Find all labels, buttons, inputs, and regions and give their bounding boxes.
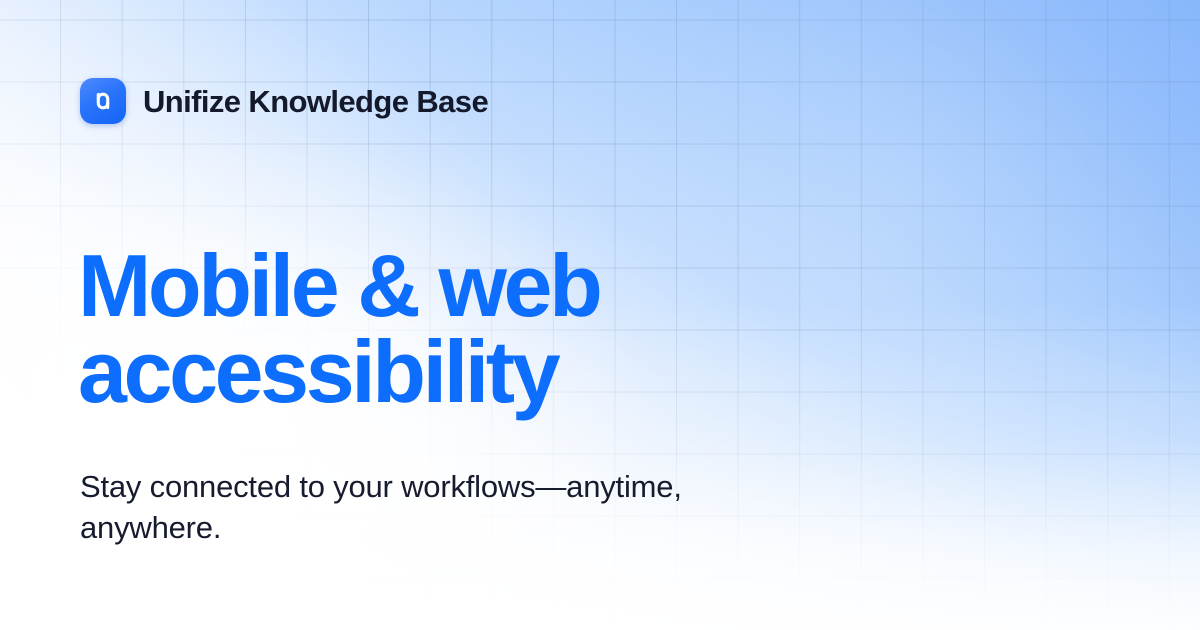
page-title-line-1: Mobile & web: [78, 243, 778, 329]
page-subtitle-line-2: anywhere.: [80, 507, 880, 548]
unifize-logo-icon: [80, 78, 126, 124]
page-subtitle: Stay connected to your workflows—anytime…: [80, 466, 880, 548]
brand-header: Unifize Knowledge Base: [80, 78, 488, 124]
brand-title: Unifize Knowledge Base: [143, 86, 488, 117]
page-title: Mobile & web accessibility: [78, 243, 778, 415]
page-subtitle-line-1: Stay connected to your workflows—anytime…: [80, 466, 880, 507]
page-title-line-2: accessibility: [78, 329, 778, 415]
og-card: Unifize Knowledge Base Mobile & web acce…: [0, 0, 1200, 630]
card-content: Unifize Knowledge Base Mobile & web acce…: [0, 0, 1200, 630]
